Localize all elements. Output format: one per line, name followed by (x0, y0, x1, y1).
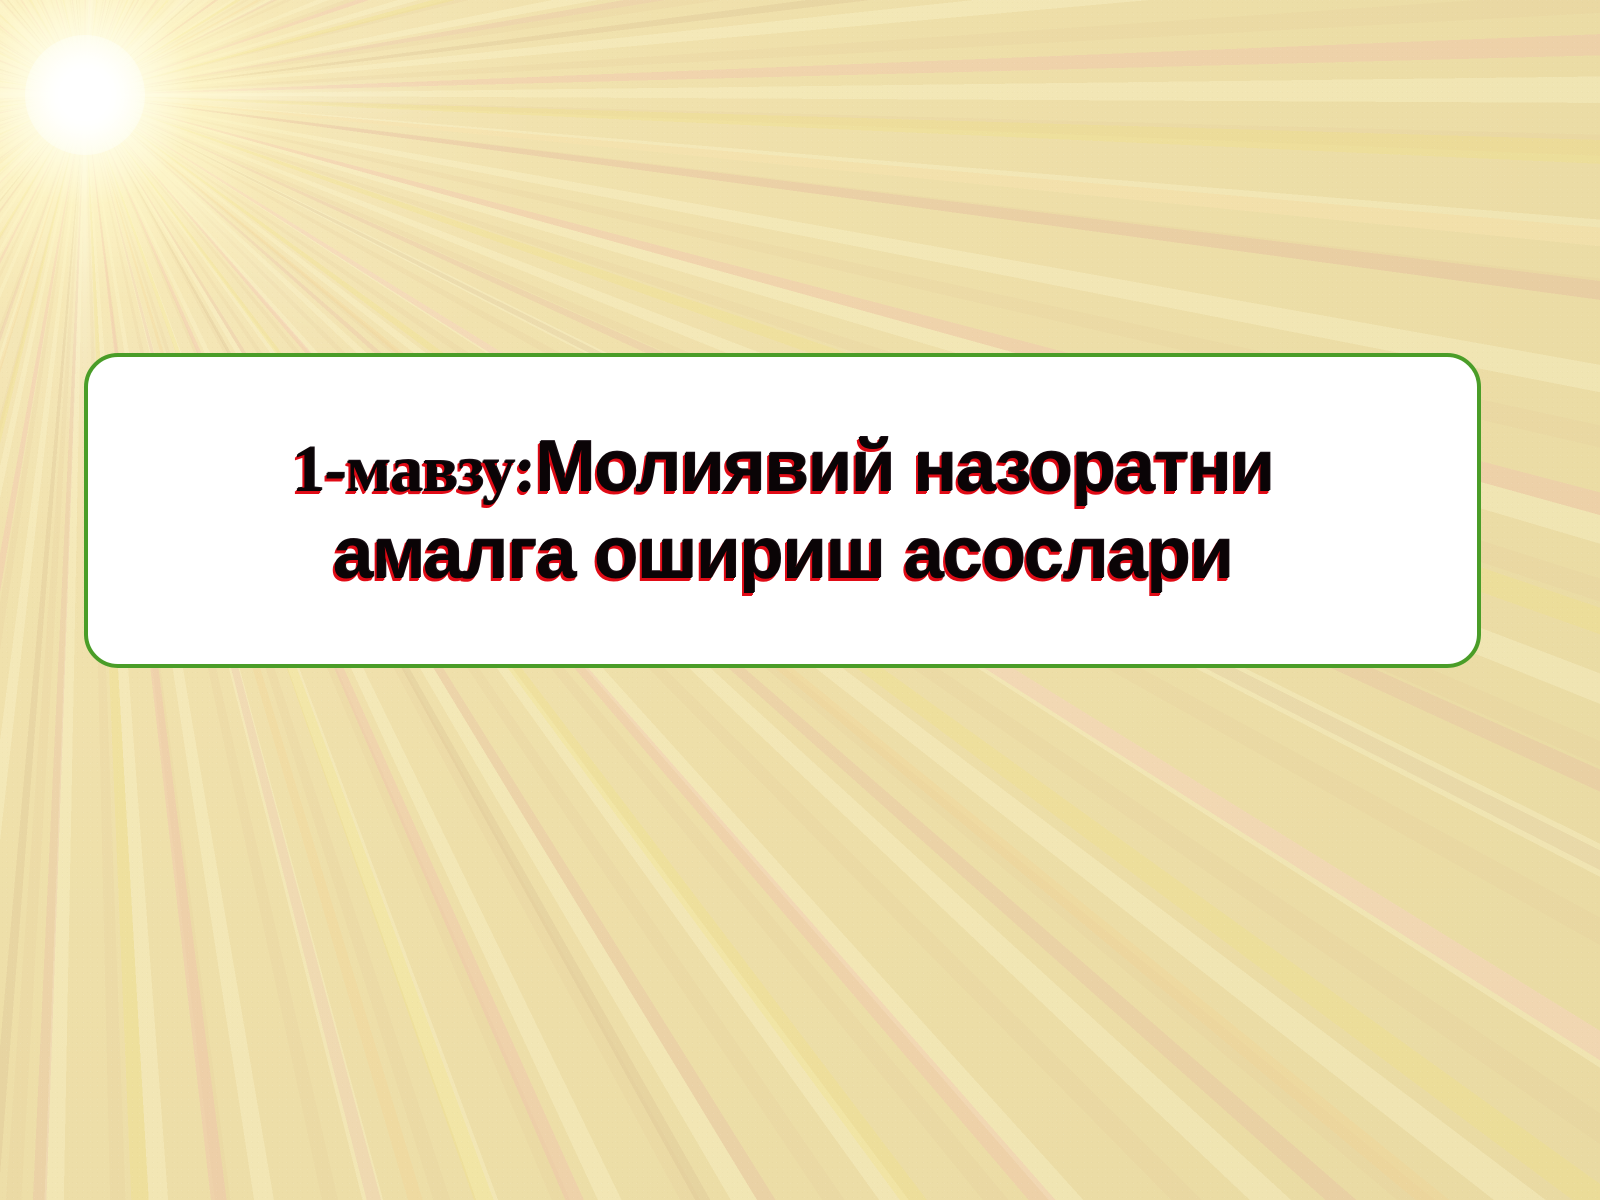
title-topic-prefix: 1-мавзу: (292, 433, 535, 506)
title-line-1-text: Молиявий назоратни (535, 427, 1273, 507)
title-text-block: 1-мавзу:Молиявий назоратни амалга ошириш… (88, 429, 1477, 592)
title-line-2-text: амалга ошириш асослари (333, 514, 1233, 594)
title-line-2: амалга ошириш асослари (108, 516, 1457, 592)
title-card: 1-мавзу:Молиявий назоратни амалга ошириш… (84, 353, 1481, 668)
title-line-1: 1-мавзу:Молиявий назоратни (108, 429, 1457, 505)
presentation-slide: 1-мавзу:Молиявий назоратни амалга ошириш… (0, 0, 1600, 1200)
